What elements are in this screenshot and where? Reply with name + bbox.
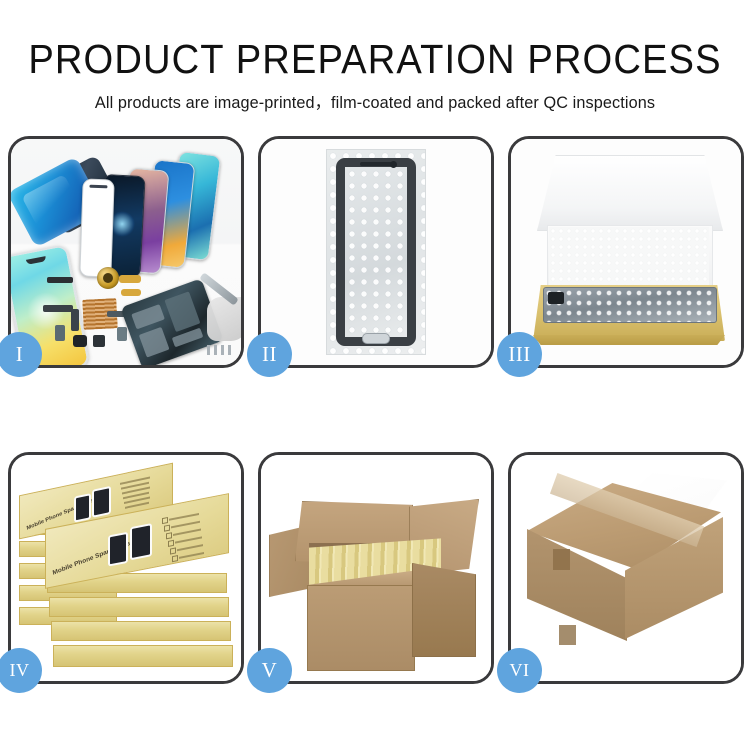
step-badge-1: I: [0, 332, 42, 377]
component-block-1: [55, 325, 65, 341]
page-title: PRODUCT PREPARATION PROCESS: [26, 0, 724, 82]
sealed-carton-image: [511, 455, 741, 681]
front-camera-icon: [390, 161, 397, 168]
box-checklist-line-f1: [169, 513, 199, 520]
step-badge-2: II: [247, 332, 292, 377]
step-image-2: [261, 139, 491, 365]
header: PRODUCT PREPARATION PROCESS All products…: [0, 0, 750, 114]
step-badge-4: IV: [0, 648, 42, 693]
step-badge-6: VI: [497, 648, 542, 693]
flex-cable-1: [119, 275, 141, 283]
component-block-2: [73, 335, 87, 347]
box-checkbox-5: [170, 547, 176, 554]
box-checklist-line-f3: [173, 529, 201, 536]
boxed-screen-image: [511, 139, 741, 365]
box-checklist-line-f4: [175, 536, 202, 543]
step-badge-3: III: [497, 332, 542, 377]
box-screen-graphic-f1: [108, 532, 128, 567]
open-carton-image: [261, 455, 491, 681]
step-card-1[interactable]: I: [8, 136, 244, 368]
box-screen-graphic-b1: [74, 493, 91, 523]
step-image-4: Mobile Phone Spare Parts: [11, 455, 241, 681]
stacked-box-front-3: [51, 621, 231, 641]
speaker-coil-icon: [97, 267, 119, 289]
component-block-4: [117, 327, 127, 341]
stacked-box-front-4: [53, 645, 233, 667]
hand-icon: [207, 297, 241, 341]
stacked-boxes-image: Mobile Phone Spare Parts: [11, 455, 241, 681]
box-checklist-line-b6: [125, 502, 149, 509]
box-screen-graphic-f2: [130, 523, 152, 560]
step-card-6[interactable]: VI: [508, 452, 744, 684]
screws-icon: [207, 345, 233, 355]
step-card-4[interactable]: Mobile Phone Spare Parts: [8, 452, 244, 684]
page-subtitle: All products are image-printed，film-coat…: [6, 82, 745, 114]
box-checkbox-3: [166, 532, 172, 539]
bubble-wrapped-screen-image: [261, 139, 491, 365]
box-checkbox-1: [162, 517, 168, 524]
carton-front-face: [307, 585, 415, 671]
wrapped-screen-in-box: [543, 287, 717, 323]
box-checkbox-2: [164, 525, 170, 532]
step-image-5: [261, 455, 491, 681]
stacked-box-front-2: [49, 597, 229, 617]
box-lid-flap: [537, 155, 723, 231]
kraft-box-front-edge: [533, 335, 725, 345]
process-steps-grid: I II: [8, 136, 744, 686]
internal-part-3: [139, 327, 170, 358]
internal-part-1: [131, 304, 165, 329]
phone-screen-fan: [81, 153, 241, 283]
parts-collage-image: [11, 139, 241, 365]
foam-insert: [549, 227, 709, 285]
screen-glass: [336, 158, 416, 346]
component-strip-4: [71, 309, 79, 331]
step-image-6: [511, 455, 741, 681]
earpiece-icon: [360, 162, 392, 166]
tape-tab-lower: [559, 625, 576, 645]
step-image-1: [11, 139, 241, 365]
product-preparation-infographic: PRODUCT PREPARATION PROCESS All products…: [0, 0, 750, 750]
step-card-2[interactable]: II: [258, 136, 494, 368]
step-image-3: [511, 139, 741, 365]
step-card-5[interactable]: V: [258, 452, 494, 684]
box-checklist-line-f2: [171, 521, 200, 528]
component-strip-1: [47, 277, 73, 283]
box-screen-graphic-b2: [92, 486, 111, 518]
component-block-3: [93, 335, 105, 347]
internal-part-2: [164, 291, 200, 332]
component-strip-2: [43, 305, 73, 312]
carton-side-face: [412, 563, 476, 657]
box-stack: Mobile Phone Spare Parts: [11, 455, 241, 681]
tape-tab-upper: [553, 549, 570, 570]
step-badge-5: V: [247, 648, 292, 693]
bubble-wrap: [326, 149, 426, 355]
flex-cable-2: [121, 289, 141, 296]
phone-screen-white: [79, 178, 114, 277]
box-checklist-line-f6: [179, 552, 204, 558]
step-card-3[interactable]: III: [508, 136, 744, 368]
box-checkbox-6: [172, 555, 178, 562]
home-button-icon: [362, 333, 390, 344]
box-checklist-line-f5: [177, 544, 203, 551]
box-checkbox-4: [168, 540, 174, 547]
